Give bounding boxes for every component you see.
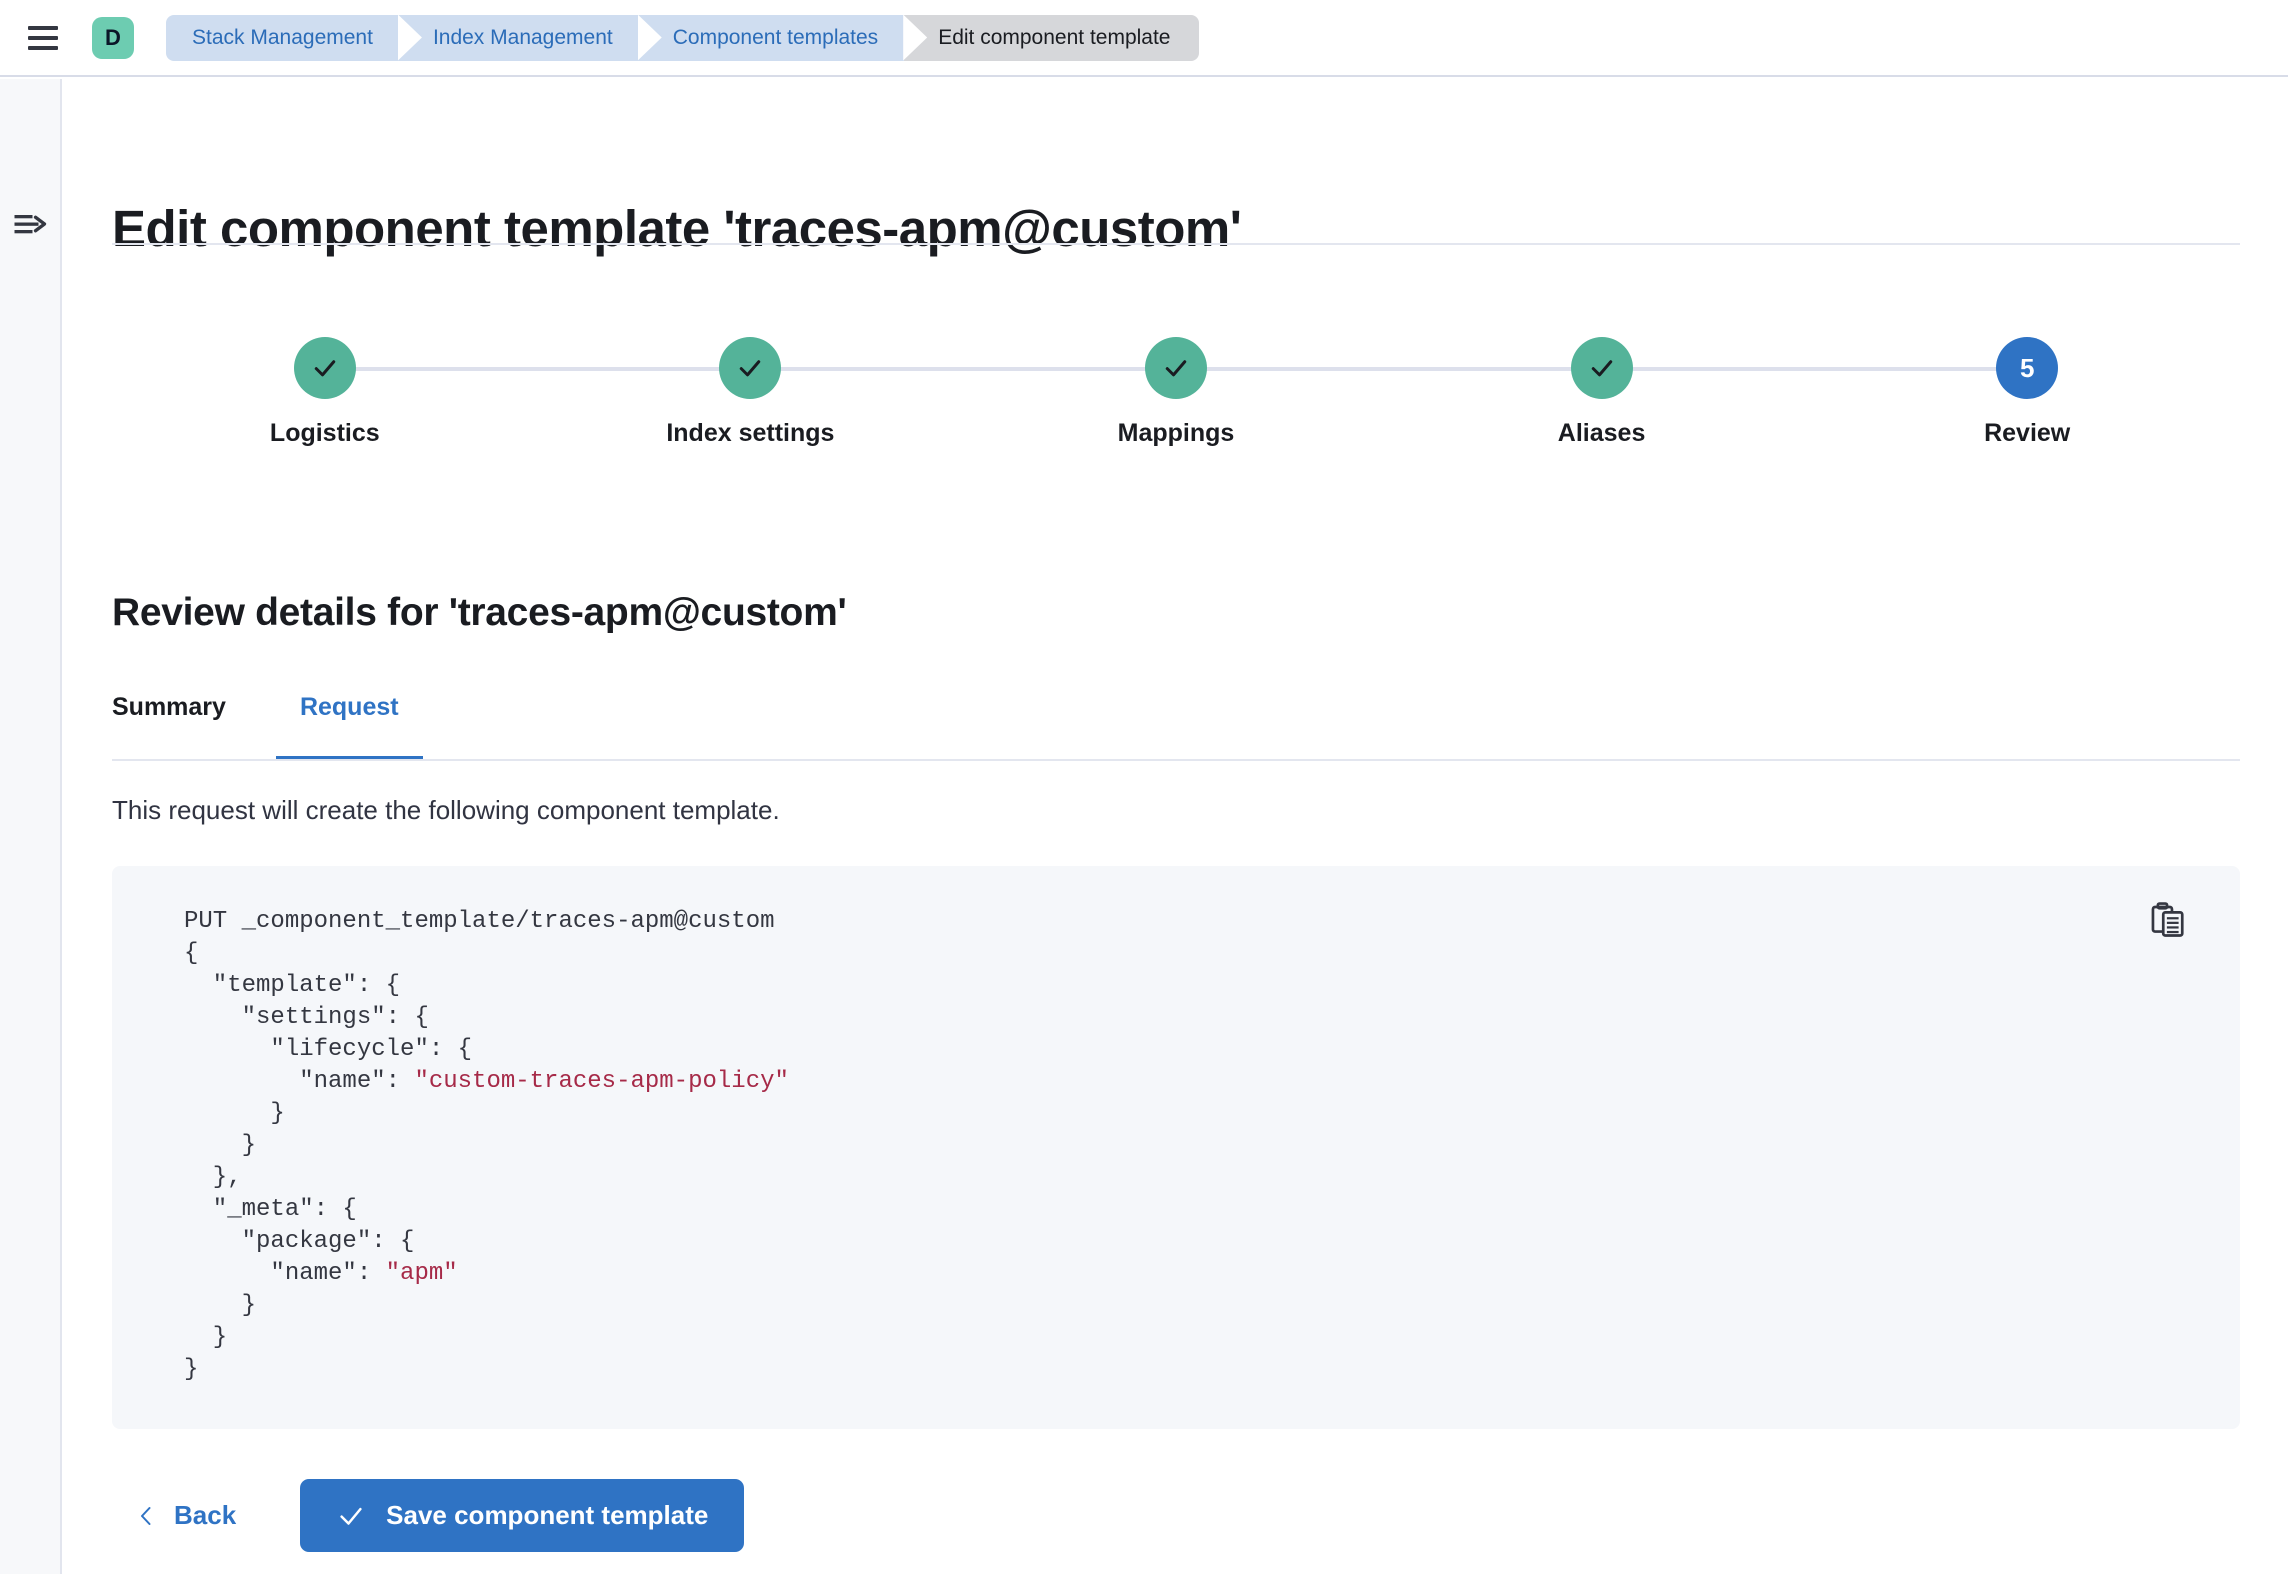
check-icon	[735, 353, 765, 383]
code-line: "template": {	[184, 972, 400, 999]
expand-sidebar-arrow-icon[interactable]	[12, 209, 50, 239]
left-sidebar-rail	[0, 79, 62, 1574]
section-title: Review details for 'traces-apm@custom'	[112, 591, 846, 635]
step-marker-complete	[294, 337, 356, 399]
title-divider	[112, 243, 2240, 245]
step-mappings[interactable]: Mappings	[963, 337, 1389, 457]
save-component-template-button[interactable]: Save component template	[300, 1479, 744, 1552]
avatar[interactable]: D	[92, 17, 134, 59]
code-line: }	[184, 1324, 227, 1351]
back-button[interactable]: Back	[112, 1490, 264, 1541]
check-icon	[310, 353, 340, 383]
code-line-method: PUT _component_template/traces-apm@custo…	[184, 908, 775, 935]
wizard-footer-actions: Back Save component template	[112, 1479, 744, 1552]
code-line-key: "name":	[184, 1260, 386, 1287]
breadcrumb-item-edit-component-template: Edit component template	[904, 15, 1198, 61]
hamburger-bar	[28, 36, 58, 40]
hamburger-menu-icon[interactable]	[22, 17, 64, 59]
step-marker-complete	[1145, 337, 1207, 399]
code-line: "package": {	[184, 1228, 414, 1255]
step-label: Index settings	[666, 419, 834, 448]
breadcrumb-item-component-templates[interactable]: Component templates	[639, 15, 904, 61]
chevron-left-icon	[134, 1501, 158, 1531]
code-line: }	[184, 1292, 256, 1319]
copy-clipboard-icon[interactable]	[2146, 898, 2190, 942]
step-review[interactable]: 5 Review	[1814, 337, 2240, 457]
breadcrumb-item-index-management[interactable]: Index Management	[399, 15, 639, 61]
code-line-string-value: "custom-traces-apm-policy"	[414, 1068, 788, 1095]
step-index-settings[interactable]: Index settings	[538, 337, 964, 457]
code-line: }	[184, 1356, 198, 1383]
save-button-label: Save component template	[386, 1500, 708, 1531]
hamburger-bar	[28, 46, 58, 50]
code-line: {	[184, 940, 198, 967]
review-tabs: Summary Request	[112, 693, 2240, 761]
step-aliases[interactable]: Aliases	[1389, 337, 1815, 457]
step-logistics[interactable]: Logistics	[112, 337, 538, 457]
request-description: This request will create the following c…	[112, 795, 780, 826]
check-icon	[336, 1501, 366, 1531]
step-marker-complete	[1571, 337, 1633, 399]
code-line: },	[184, 1164, 242, 1191]
hamburger-bar	[28, 26, 58, 30]
breadcrumb: Stack Management Index Management Compon…	[166, 15, 1199, 61]
back-button-label: Back	[174, 1500, 236, 1531]
code-line-key: "name":	[184, 1068, 414, 1095]
tab-summary[interactable]: Summary	[112, 693, 250, 761]
code-line: }	[184, 1132, 256, 1159]
request-code-panel: PUT _component_template/traces-apm@custo…	[112, 866, 2240, 1429]
step-marker-current: 5	[1996, 337, 2058, 399]
code-line: "_meta": {	[184, 1196, 357, 1223]
code-line-string-value: "apm"	[386, 1260, 458, 1287]
tab-request[interactable]: Request	[276, 693, 423, 761]
main-content: Edit component template 'traces-apm@cust…	[64, 79, 2288, 1574]
breadcrumb-item-stack-management[interactable]: Stack Management	[166, 15, 399, 61]
code-line: "lifecycle": {	[184, 1036, 472, 1063]
step-marker-complete	[719, 337, 781, 399]
code-line: "settings": {	[184, 1004, 429, 1031]
step-label: Mappings	[1118, 419, 1235, 448]
top-navigation-bar: D Stack Management Index Management Comp…	[0, 0, 2288, 77]
code-line: }	[184, 1100, 285, 1127]
request-code-body[interactable]: PUT _component_template/traces-apm@custo…	[184, 906, 789, 1386]
tabs-divider	[112, 759, 2240, 761]
step-label: Logistics	[270, 419, 380, 448]
page-title: Edit component template 'traces-apm@cust…	[112, 199, 1241, 258]
check-icon	[1161, 353, 1191, 383]
check-icon	[1587, 353, 1617, 383]
step-label: Aliases	[1558, 419, 1646, 448]
wizard-stepper: Logistics Index settings Mappings	[112, 337, 2240, 457]
step-label: Review	[1984, 419, 2070, 448]
